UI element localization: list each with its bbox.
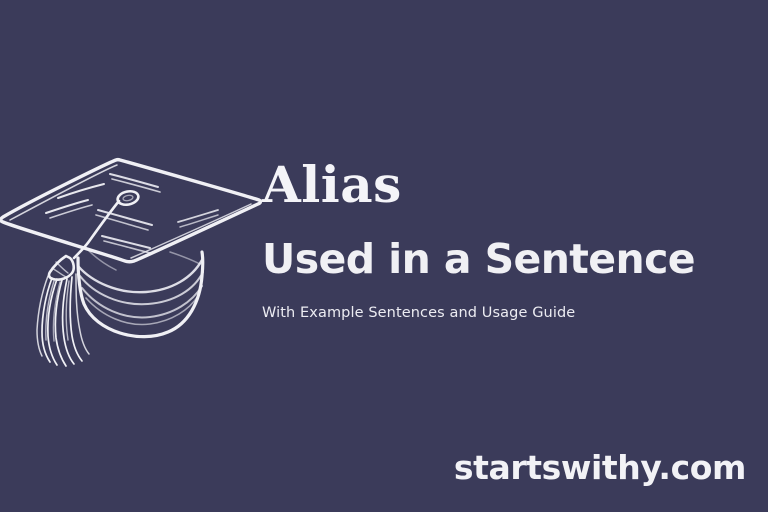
site-brand: startswithy.com — [454, 451, 746, 484]
word-title: Alias — [262, 160, 748, 210]
title-block: Alias Used in a Sentence With Example Se… — [262, 160, 748, 321]
subheadline: With Example Sentences and Usage Guide — [262, 306, 748, 321]
graduation-cap-icon — [0, 148, 272, 378]
headline: Used in a Sentence — [262, 239, 748, 280]
thumbnail-card: Alias Used in a Sentence With Example Se… — [0, 0, 768, 512]
